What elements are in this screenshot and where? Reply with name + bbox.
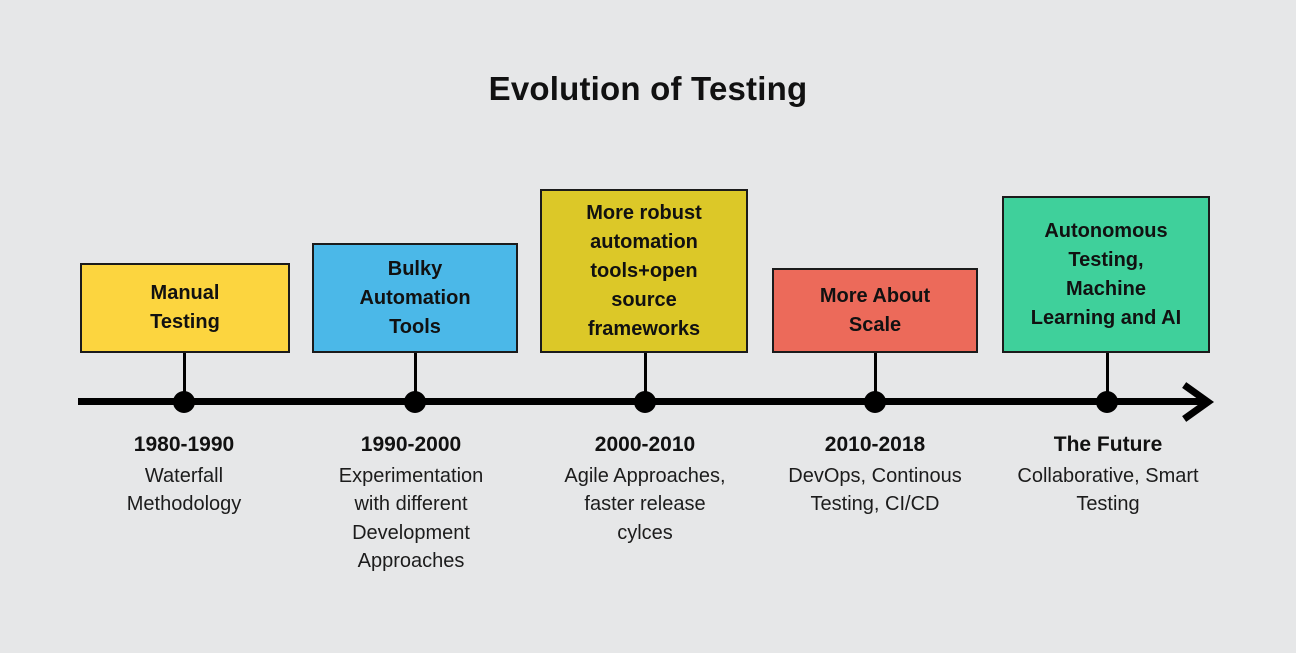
stage-caption-manual-testing: 1980-1990Waterfall Methodology	[84, 430, 284, 519]
stage-era-bulky-automation-tools: 1990-2000	[311, 430, 511, 460]
stage-marker-autonomous-testing[interactable]	[1096, 391, 1118, 413]
stage-card-more-about-scale[interactable]: More About Scale	[772, 268, 978, 353]
stage-card-manual-testing[interactable]: Manual Testing	[80, 263, 290, 353]
stage-card-robust-automation-tools[interactable]: More robust automation tools+open source…	[540, 189, 748, 353]
stage-caption-bulky-automation-tools: 1990-2000Experimentation with different …	[311, 430, 511, 575]
stage-description-manual-testing: Waterfall Methodology	[84, 462, 284, 519]
stage-era-manual-testing: 1980-1990	[84, 430, 284, 460]
page-title: Evolution of Testing	[0, 70, 1296, 108]
arrow-right-icon	[1176, 381, 1218, 423]
stage-card-bulky-automation-tools[interactable]: Bulky Automation Tools	[312, 243, 518, 353]
stage-description-more-about-scale: DevOps, Continous Testing, CI/CD	[768, 462, 982, 519]
stage-caption-autonomous-testing: The FutureCollaborative, Smart Testing	[998, 430, 1218, 519]
stage-era-autonomous-testing: The Future	[998, 430, 1218, 460]
stage-description-autonomous-testing: Collaborative, Smart Testing	[998, 462, 1218, 519]
stage-card-autonomous-testing[interactable]: Autonomous Testing, Machine Learning and…	[1002, 196, 1210, 353]
stage-marker-more-about-scale[interactable]	[864, 391, 886, 413]
stage-era-robust-automation-tools: 2000-2010	[542, 430, 748, 460]
stage-era-more-about-scale: 2010-2018	[768, 430, 982, 460]
stage-caption-more-about-scale: 2010-2018DevOps, Continous Testing, CI/C…	[768, 430, 982, 519]
stage-marker-manual-testing[interactable]	[173, 391, 195, 413]
stage-description-robust-automation-tools: Agile Approaches, faster release cylces	[542, 462, 748, 547]
timeline-diagram: Evolution of Testing Manual Testing1980-…	[0, 0, 1296, 653]
stage-marker-bulky-automation-tools[interactable]	[404, 391, 426, 413]
stage-description-bulky-automation-tools: Experimentation with different Developme…	[311, 462, 511, 576]
stage-caption-robust-automation-tools: 2000-2010Agile Approaches, faster releas…	[542, 430, 748, 547]
stage-marker-robust-automation-tools[interactable]	[634, 391, 656, 413]
